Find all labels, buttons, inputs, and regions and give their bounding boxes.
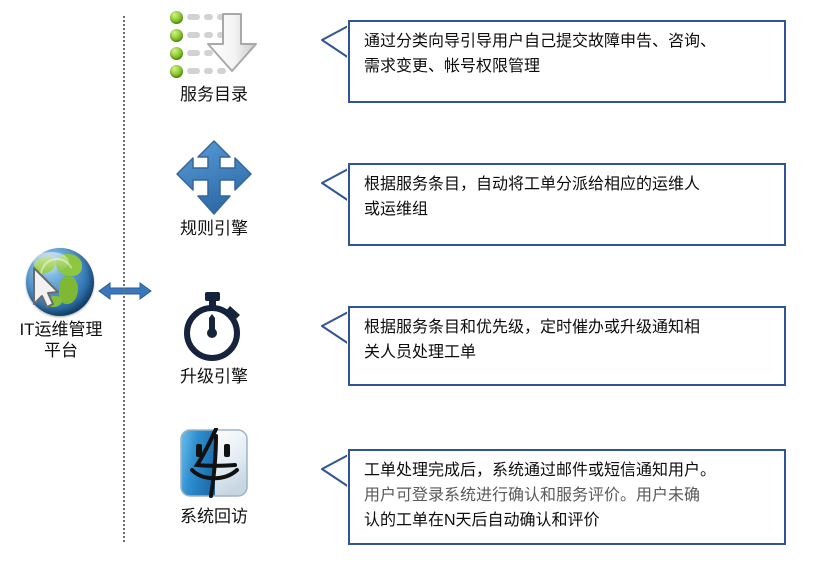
stage-icon-rule-engine: 规则引擎 bbox=[152, 140, 276, 240]
stage-icon-system-followup: 系统回访 bbox=[152, 428, 276, 528]
globe-with-cursor-icon bbox=[22, 248, 100, 318]
callout-text: 通过分类向导引导用户自己提交故障申告、咨询、 需求变更、帐号权限管理 bbox=[364, 29, 776, 79]
service-catalog-icon bbox=[152, 6, 276, 82]
callout-box: 通过分类向导引导用户自己提交故障申告、咨询、 需求变更、帐号权限管理 bbox=[348, 20, 786, 103]
callout-box: 根据服务条目，自动将工单分派给相应的运维人 或运维组 bbox=[348, 163, 786, 246]
stage-label: 规则引擎 bbox=[152, 218, 276, 240]
callout-box: 工单处理完成后，系统通过邮件或短信通知用户。用户可登录系统进行确认和服务评价。用… bbox=[348, 449, 786, 545]
callout-text: 根据服务条目和优先级，定时催办或升级通知相 关人员处理工单 bbox=[364, 315, 776, 365]
four-way-arrow-icon bbox=[152, 140, 276, 216]
stage-icon-service-catalog: 服务目录 bbox=[152, 6, 276, 106]
stage-label: 升级引擎 bbox=[152, 366, 276, 388]
callout-line-3: 认的工单在N天后自动确认和评价 bbox=[364, 512, 600, 529]
callout-text: 工单处理完成后，系统通过邮件或短信通知用户。用户可登录系统进行确认和服务评价。用… bbox=[364, 458, 776, 533]
down-arrow-icon bbox=[204, 12, 260, 74]
dotted-divider bbox=[123, 16, 125, 542]
platform-label: IT运维管理 平台 bbox=[0, 319, 122, 361]
callout-line-1: 工单处理完成后，系统通过邮件或短信通知用户。 bbox=[364, 462, 716, 479]
stopwatch-icon bbox=[152, 288, 276, 364]
mac-face-icon bbox=[152, 428, 276, 504]
stage-label: 系统回访 bbox=[152, 506, 276, 528]
cursor-arrow-icon bbox=[30, 266, 62, 310]
callout-line-2: 用户可登录系统进行确认和服务评价。用户未确 bbox=[364, 487, 700, 504]
callout-box: 根据服务条目和优先级，定时催办或升级通知相 关人员处理工单 bbox=[348, 306, 786, 386]
platform-node: IT运维管理 平台 bbox=[0, 248, 122, 361]
callout-text: 根据服务条目，自动将工单分派给相应的运维人 或运维组 bbox=[364, 172, 776, 222]
bidirectional-arrow-icon bbox=[98, 279, 152, 303]
stage-icon-escalation-engine: 升级引擎 bbox=[152, 288, 276, 388]
diagram-canvas: IT运维管理 平台 bbox=[0, 0, 840, 566]
stage-label: 服务目录 bbox=[152, 84, 276, 106]
